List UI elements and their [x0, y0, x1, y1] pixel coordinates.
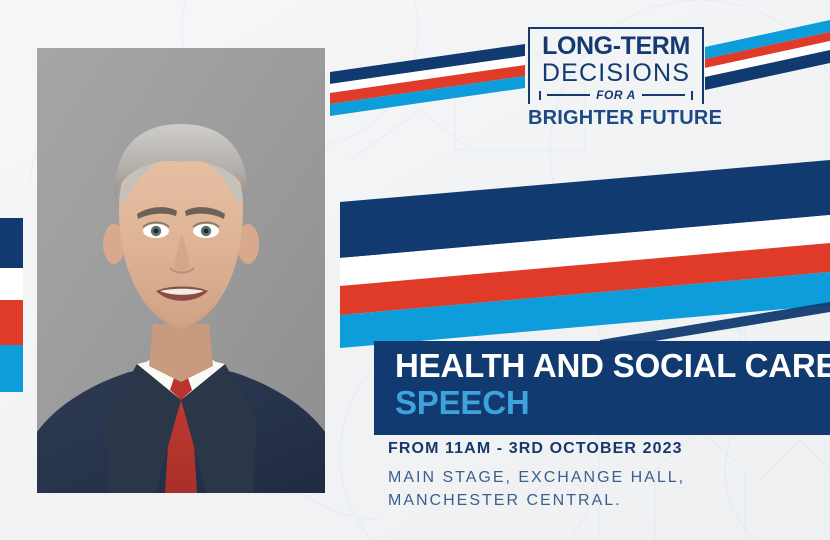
event-venue-line-1: MAIN STAGE, EXCHANGE HALL, — [388, 466, 818, 489]
event-venue-line-2: MANCHESTER CENTRAL. — [388, 489, 818, 512]
title-banner: HEALTH AND SOCIAL CARE SPEECH — [374, 341, 830, 435]
logo-rule-right — [642, 94, 685, 96]
logo-line-brighter-future: BRIGHTER FUTURE — [528, 107, 704, 130]
logo-box-right-tick — [691, 91, 693, 100]
event-subtitle: SPEECH — [395, 385, 530, 422]
event-details: FROM 11AM - 3RD OCTOBER 2023 MAIN STAGE,… — [388, 440, 818, 512]
logo-connector-for-a: FOR A — [596, 88, 636, 102]
logo-line-long-term: LONG-TERM — [539, 34, 693, 59]
logo-rule-left — [547, 94, 590, 96]
campaign-logo: LONG-TERM DECISIONS FOR A BRIGHTER FUTUR… — [528, 27, 704, 130]
logo-line-decisions: DECISIONS — [539, 60, 693, 86]
logo-box-left-tick — [539, 91, 541, 100]
logo-for-a-row: FOR A — [539, 88, 693, 102]
event-datetime: FROM 11AM - 3RD OCTOBER 2023 — [388, 440, 818, 458]
portrait-illustration — [37, 48, 325, 493]
logo-box: LONG-TERM DECISIONS FOR A — [528, 27, 704, 104]
poster-canvas: LONG-TERM DECISIONS FOR A BRIGHTER FUTUR… — [0, 0, 830, 540]
event-title: HEALTH AND SOCIAL CARE — [395, 348, 830, 385]
event-venue: MAIN STAGE, EXCHANGE HALL, MANCHESTER CE… — [388, 466, 818, 512]
speaker-portrait — [37, 48, 325, 493]
